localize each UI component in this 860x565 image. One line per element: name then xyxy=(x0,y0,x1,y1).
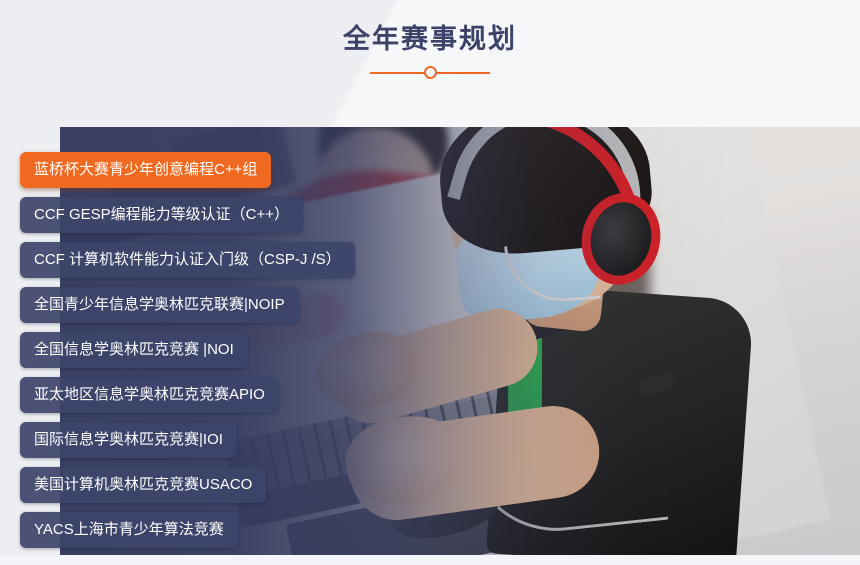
divider-dot-icon xyxy=(424,66,437,79)
list-item-label: 美国计算机奥林匹克竞赛USACO xyxy=(34,467,252,503)
list-item-competition-6[interactable]: 亚太地区信息学奥林匹克竞赛APIO xyxy=(20,377,279,413)
list-item-competition-9[interactable]: YACS上海市青少年算法竞赛 xyxy=(20,512,238,548)
list-item-competition-7[interactable]: 国际信息学奥林匹克竞赛|IOI xyxy=(20,422,237,458)
list-item-label: YACS上海市青少年算法竞赛 xyxy=(34,512,224,548)
list-item-label: 亚太地区信息学奥林匹克竞赛APIO xyxy=(34,377,265,413)
list-item-label: 全国信息学奥林匹克竞赛 |NOI xyxy=(34,332,234,368)
footer-strip xyxy=(0,555,860,565)
page-title: 全年赛事规划 xyxy=(0,0,860,56)
page-root: 全年赛事规划 xyxy=(0,0,860,565)
list-item-label: 蓝桥杯大赛青少年创意编程C++组 xyxy=(34,152,257,188)
title-divider xyxy=(370,66,490,80)
list-item-competition-2[interactable]: CCF GESP编程能力等级认证（C++） xyxy=(20,197,303,233)
list-item-label: 国际信息学奥林匹克竞赛|IOI xyxy=(34,422,223,458)
list-item-competition-3[interactable]: CCF 计算机软件能力认证入门级（CSP-J /S） xyxy=(20,242,355,278)
list-item-label: 全国青少年信息学奥林匹克联赛|NOIP xyxy=(34,287,285,323)
list-item-competition-1[interactable]: 蓝桥杯大赛青少年创意编程C++组 xyxy=(20,152,271,188)
section-header: 全年赛事规划 xyxy=(0,0,860,110)
list-item-label: CCF GESP编程能力等级认证（C++） xyxy=(34,197,289,233)
list-item-competition-5[interactable]: 全国信息学奥林匹克竞赛 |NOI xyxy=(20,332,248,368)
competition-list: 蓝桥杯大赛青少年创意编程C++组 CCF GESP编程能力等级认证（C++） C… xyxy=(20,152,360,557)
list-item-competition-8[interactable]: 美国计算机奥林匹克竞赛USACO xyxy=(20,467,266,503)
list-item-competition-4[interactable]: 全国青少年信息学奥林匹克联赛|NOIP xyxy=(20,287,299,323)
list-item-label: CCF 计算机软件能力认证入门级（CSP-J /S） xyxy=(34,242,341,278)
